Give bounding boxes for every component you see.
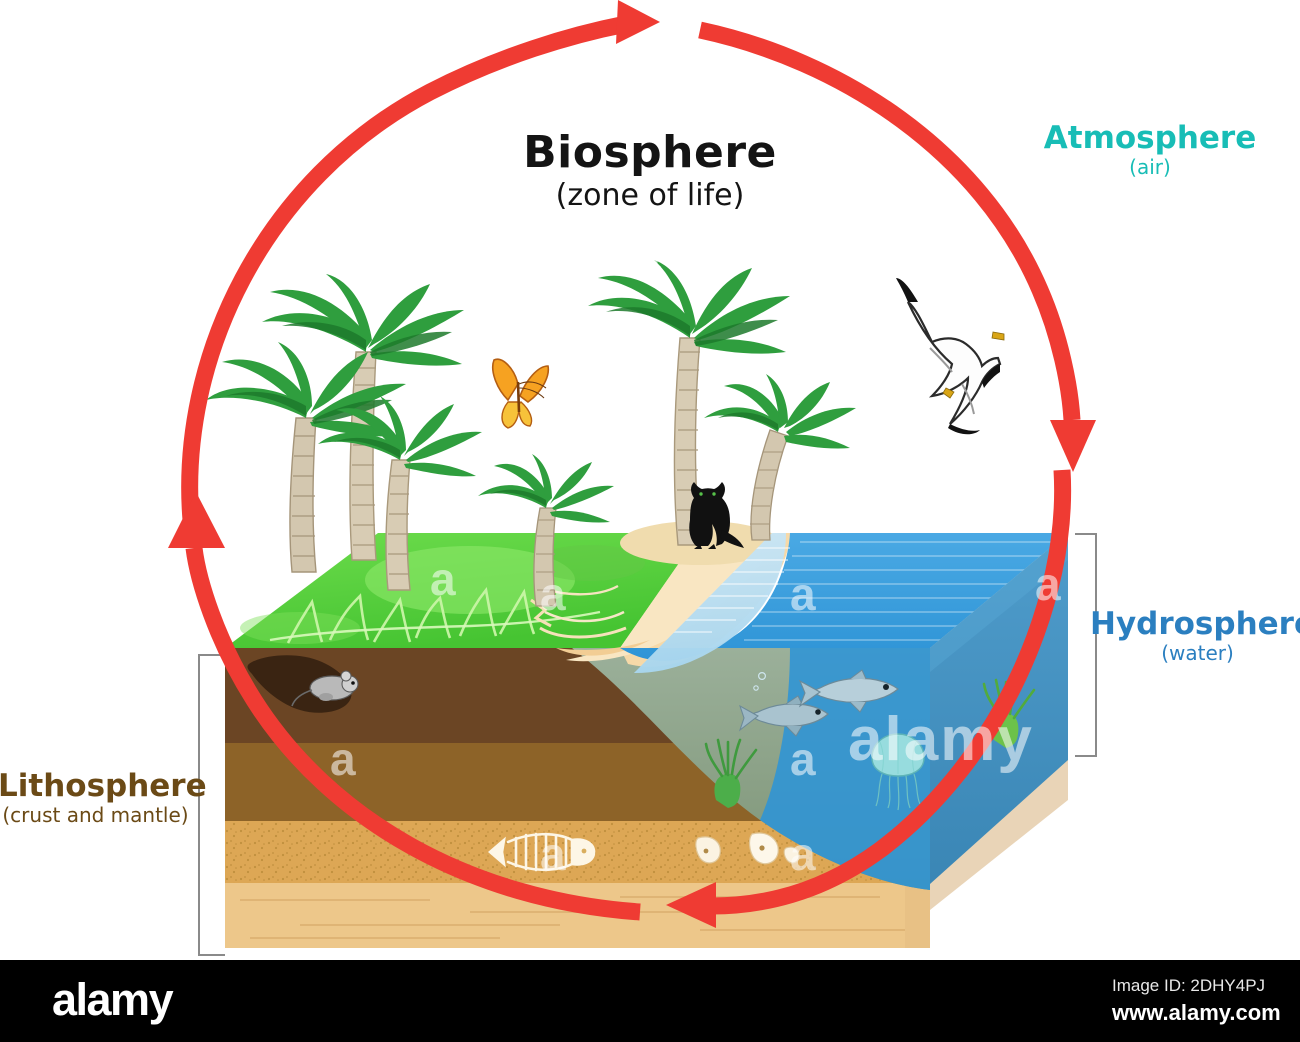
svg-text:a: a bbox=[790, 568, 816, 620]
hydrosphere-title: Hydrosphere bbox=[1090, 608, 1300, 641]
arrowhead-left bbox=[168, 492, 225, 548]
svg-text:a: a bbox=[540, 828, 566, 880]
alamy-url-text: www.alamy.com bbox=[1112, 1000, 1281, 1026]
biosphere-title: Biosphere bbox=[400, 130, 900, 176]
svg-text:a: a bbox=[330, 733, 356, 785]
soil-layer-bedrock bbox=[225, 883, 930, 949]
lithosphere-label: Lithosphere (crust and mantle) bbox=[0, 770, 193, 826]
alamy-logo: alamy bbox=[52, 974, 172, 1026]
biosphere-subtitle: (zone of life) bbox=[400, 180, 900, 212]
arrowhead-right bbox=[1050, 420, 1096, 472]
atmosphere-title: Atmosphere bbox=[990, 122, 1300, 155]
svg-text:a: a bbox=[540, 568, 566, 620]
lithosphere-title: Lithosphere bbox=[0, 770, 193, 803]
seagull bbox=[896, 278, 1004, 434]
svg-text:a: a bbox=[258, 388, 284, 440]
svg-text:a: a bbox=[635, 228, 661, 280]
hydrosphere-label: Hydrosphere (water) bbox=[1090, 608, 1300, 664]
svg-text:a: a bbox=[1080, 228, 1106, 280]
atmosphere-label: Atmosphere (air) bbox=[990, 122, 1300, 178]
image-id-text: Image ID: 2DHY4PJ bbox=[1112, 976, 1265, 996]
svg-text:a: a bbox=[790, 733, 816, 785]
arrowhead-top bbox=[616, 0, 660, 44]
butterfly bbox=[493, 359, 549, 428]
diagram-page: a a a a a a a a a a a a alamy a Biospher… bbox=[0, 0, 1300, 1042]
svg-text:a: a bbox=[1035, 558, 1061, 610]
biosphere-label: Biosphere (zone of life) bbox=[400, 130, 900, 212]
svg-text:a: a bbox=[790, 828, 816, 880]
svg-text:alamy: alamy bbox=[848, 705, 1034, 774]
diagram-canvas: a a a a a a a a a a a a alamy a Biospher… bbox=[0, 0, 1300, 960]
lithosphere-bracket bbox=[199, 655, 225, 955]
stock-watermark-bar bbox=[0, 960, 1300, 1042]
svg-text:a: a bbox=[68, 558, 94, 610]
hydrosphere-subtitle: (water) bbox=[1090, 643, 1300, 664]
svg-text:a: a bbox=[430, 553, 456, 605]
atmosphere-subtitle: (air) bbox=[990, 157, 1300, 178]
lithosphere-subtitle: (crust and mantle) bbox=[0, 805, 193, 826]
svg-text:a: a bbox=[880, 388, 906, 440]
